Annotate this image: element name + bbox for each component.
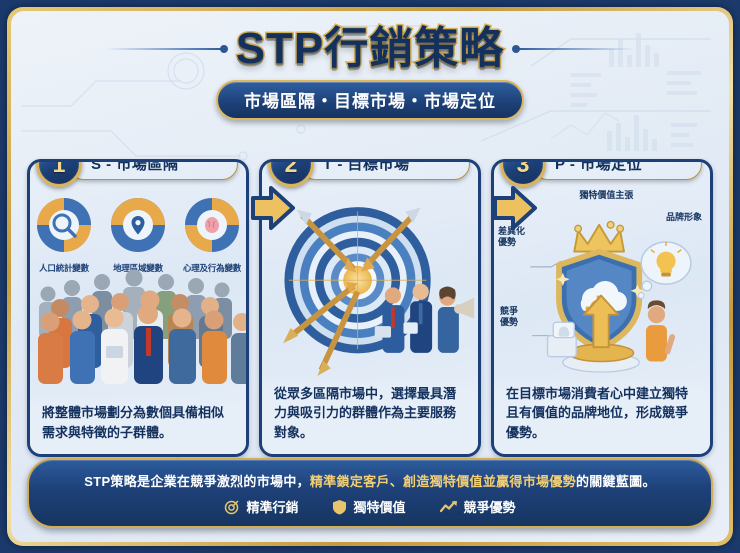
competitive-line1: 競爭: [500, 306, 518, 316]
lightbulb-thought-icon: [638, 242, 691, 298]
segment-variable-icons: 人口統計變數: [30, 194, 246, 274]
positioning-label-brand-image: 品牌形象: [666, 212, 702, 223]
infographic-poster: STP行銷策略 市場區隔・目標市場・市場定位 1 S - 市場區隔: [0, 0, 740, 553]
summary-highlight: 精準鎖定客戶、創造獨特價值並贏得市場優勢: [310, 474, 576, 489]
card-header: 3 P - 市場定位: [500, 159, 702, 184]
crown-icon: [574, 221, 624, 251]
chip-label: 競爭優勢: [464, 497, 516, 516]
competitive-line2: 優勢: [500, 317, 518, 327]
card-header: 2 T - 目標市場: [268, 159, 470, 184]
title-row: STP行銷策略: [11, 27, 729, 71]
chip-label: 獨特價值: [353, 497, 405, 516]
title-rule-right: [514, 48, 634, 50]
summary-part1: STP策略是企業在競爭激烈的市場中，: [84, 474, 310, 489]
summary-text: STP策略是企業在競爭激烈的市場中，精準鎖定客戶、創造獨特價值並贏得市場優勢的關…: [45, 471, 695, 490]
segment-variable-geographic: 地理區域變數: [104, 194, 172, 274]
differentiation-line2: 優勢: [498, 237, 516, 247]
card-illustration-segmentation: 人口統計變數: [30, 188, 246, 384]
poster-inner: STP行銷策略 市場區隔・目標市場・市場定位 1 S - 市場區隔: [11, 11, 729, 542]
segment-variable-psychographic: 心理及行為變數: [178, 194, 246, 274]
summary-chip-row: 精準行銷 獨特價值 競爭優勢: [45, 497, 695, 516]
chip-precision-marketing[interactable]: 精準行銷: [224, 497, 298, 516]
card-segmentation[interactable]: 1 S - 市場區隔: [27, 159, 249, 457]
stp-card-row: 1 S - 市場區隔: [27, 159, 713, 457]
card-heading: T - 目標市場: [300, 159, 470, 180]
donut-brain-icon: [181, 194, 243, 256]
summary-part2: 的關鍵藍圖。: [576, 474, 656, 489]
card-heading: P - 市場定位: [532, 159, 702, 180]
step-badge: 1: [36, 159, 82, 187]
page-title: STP行銷策略: [236, 27, 505, 71]
gold-frame-border: STP行銷策略 市場區隔・目標市場・市場定位 1 S - 市場區隔: [7, 7, 733, 546]
chip-competitive-advantage[interactable]: 競爭優勢: [440, 497, 516, 516]
subtitle-pill: 市場區隔・目標市場・市場定位: [216, 80, 524, 120]
poster-header: STP行銷策略 市場區隔・目標市場・市場定位: [11, 11, 729, 120]
positioning-label-value-proposition: 獨特價值主張: [579, 190, 633, 201]
step-badge: 2: [268, 159, 314, 187]
connector-arrow-1: [251, 186, 295, 230]
person-icon: [646, 300, 676, 361]
connector-arrow-2: [493, 186, 537, 230]
card-description: 將整體市場劃分為數個具備相似需求與特徵的子群體。: [30, 395, 246, 454]
positioning-label-competitive-advantage: 競爭 優勢: [500, 306, 518, 329]
card-description: 從眾多區隔市場中，選擇最具潛力與吸引力的群體作為主要服務對象。: [262, 376, 478, 455]
donut-magnifier-icon: [33, 194, 95, 256]
step-badge: 3: [500, 159, 546, 187]
product-boxes-icon: [548, 322, 577, 356]
segment-variable-demographic: 人口統計變數: [30, 194, 98, 274]
crowd-illustration: [30, 264, 249, 384]
summary-banner: STP策略是企業在競爭激烈的市場中，精準鎖定客戶、創造獨特價值並贏得市場優勢的關…: [27, 458, 713, 528]
title-dot-left: [220, 45, 228, 53]
card-description: 在目標市場消費者心中建立獨特且有價值的品牌地位，形成競爭優勢。: [494, 376, 710, 455]
card-heading: S - 市場區隔: [68, 159, 238, 180]
title-rule-left: [106, 48, 226, 50]
business-team-illustration: [375, 284, 474, 353]
shield-icon: [332, 499, 347, 515]
donut-map-pin-icon: [107, 194, 169, 256]
card-header: 1 S - 市場區隔: [36, 159, 238, 184]
trend-up-icon: [440, 499, 458, 515]
chip-unique-value[interactable]: 獨特價值: [332, 497, 405, 516]
target-icon: [224, 499, 240, 515]
card-body: 1 S - 市場區隔: [27, 159, 249, 457]
title-dot-right: [512, 45, 520, 53]
chip-label: 精準行銷: [246, 497, 298, 516]
